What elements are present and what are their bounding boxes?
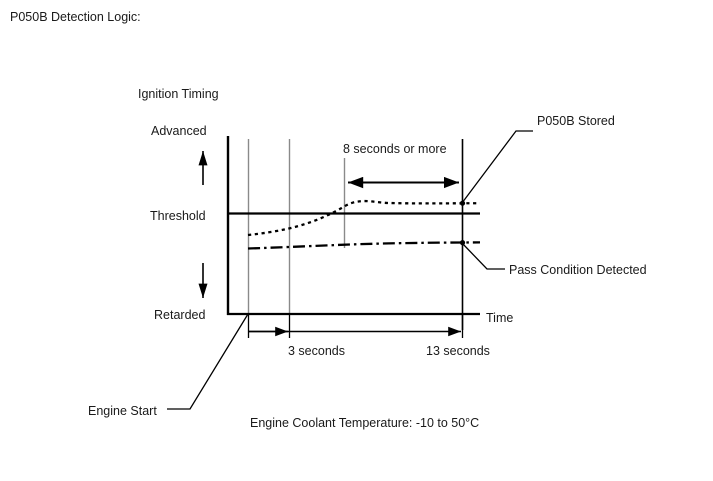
time-tick-annotations [249,315,463,338]
leader-engine-start [167,314,248,409]
axis-group [227,136,480,330]
leader-p050b-stored [462,131,533,203]
marker-pass-condition [460,240,465,245]
series-group [248,201,480,248]
detection-logic-chart [0,0,713,481]
marker-p050b-stored [460,201,465,206]
leader-pass-condition [462,243,505,269]
diagram-page: P050B Detection Logic: Ignition Timing A… [0,0,713,481]
series-ignition-timing-fault [248,201,480,235]
series-ignition-timing-pass [248,242,480,248]
callout-leaders [167,131,533,409]
